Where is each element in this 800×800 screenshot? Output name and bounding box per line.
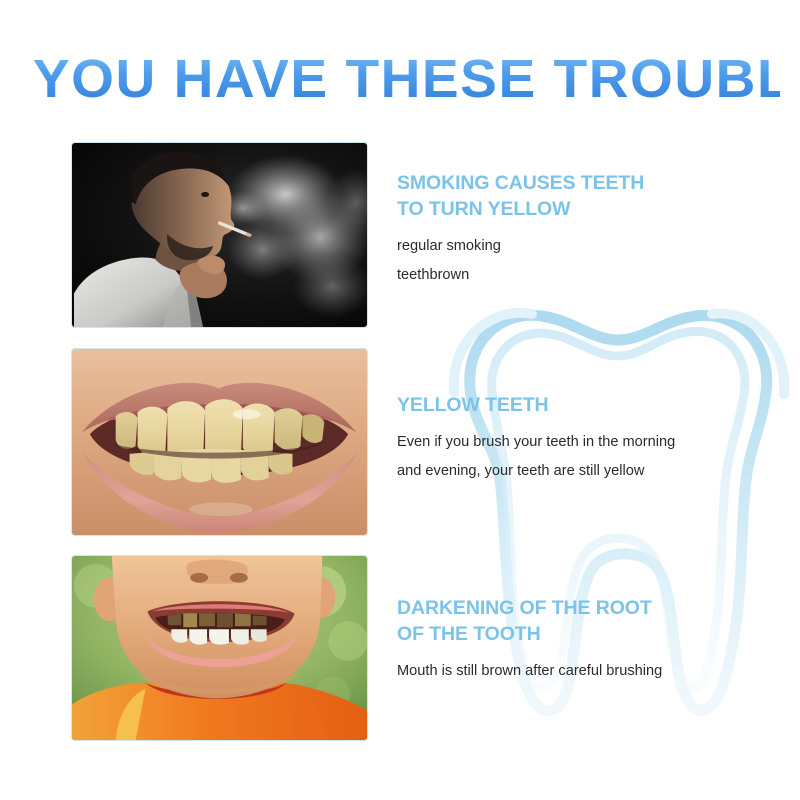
photo-man-smoking [71,142,368,328]
trouble-body-root-darkening: Mouth is still brown after careful brush… [397,657,777,686]
photo-yellow-teeth [71,348,368,536]
trouble-body-yellow-teeth: Even if you brush your teeth in the morn… [397,428,777,486]
trouble-block-smoking: SMOKING CAUSES TEETH TO TURN YELLOW regu… [397,170,767,290]
svg-text:DO YOU HAVE THESE TROUBLES: DO YOU HAVE THESE TROUBLES [20,52,780,108]
trouble-heading-yellow-teeth: YELLOW TEETH [397,392,777,418]
trouble-block-yellow-teeth: YELLOW TEETH Even if you brush your teet… [397,392,777,486]
photo-child-dark-teeth [71,555,368,741]
trouble-heading-root-darkening: DARKENING OF THE ROOT OF THE TOOTH [397,595,777,647]
poster-root: DO YOU HAVE THESE TROUBLES [0,0,800,800]
page-title: DO YOU HAVE THESE TROUBLES [0,52,800,108]
trouble-block-root-darkening: DARKENING OF THE ROOT OF THE TOOTH Mouth… [397,595,777,686]
trouble-heading-smoking: SMOKING CAUSES TEETH TO TURN YELLOW [397,170,767,222]
trouble-body-smoking: regular smoking teethbrown [397,232,767,290]
